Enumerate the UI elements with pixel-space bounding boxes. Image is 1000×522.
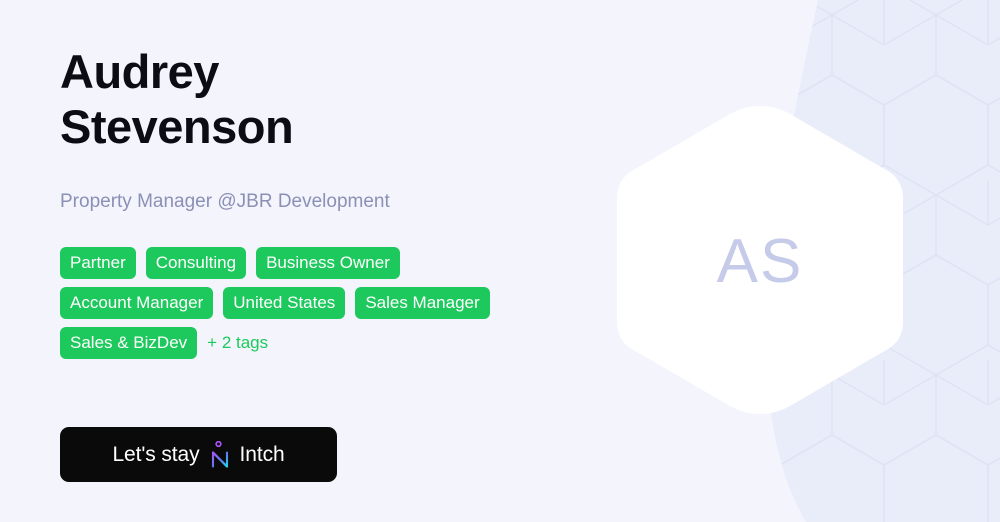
- tag-chip[interactable]: Partner: [60, 247, 136, 279]
- tag-chip[interactable]: Business Owner: [256, 247, 400, 279]
- tag-chip[interactable]: Sales & BizDev: [60, 327, 197, 359]
- tag-overflow-count[interactable]: + 2 tags: [207, 334, 268, 351]
- avatar-initials: AS: [717, 227, 804, 296]
- tag-chip[interactable]: United States: [223, 287, 345, 319]
- cta-label-before: Let's stay: [112, 443, 199, 467]
- profile-headline: Property Manager @JBR Development: [60, 191, 580, 213]
- tag-chip[interactable]: Account Manager: [60, 287, 213, 319]
- lets-stay-intch-button[interactable]: Let's stay Intch: [60, 427, 337, 482]
- cta-label-after: Intch: [240, 443, 285, 467]
- avatar: AS: [600, 100, 920, 420]
- intch-n-logo-icon: [209, 441, 231, 469]
- profile-content: Audrey Stevenson Property Manager @JBR D…: [60, 0, 580, 522]
- page-title: Audrey Stevenson: [60, 0, 580, 155]
- tag-list: Partner Consulting Business Owner Accoun…: [60, 247, 520, 359]
- tag-chip[interactable]: Consulting: [146, 247, 246, 279]
- tag-chip[interactable]: Sales Manager: [355, 287, 489, 319]
